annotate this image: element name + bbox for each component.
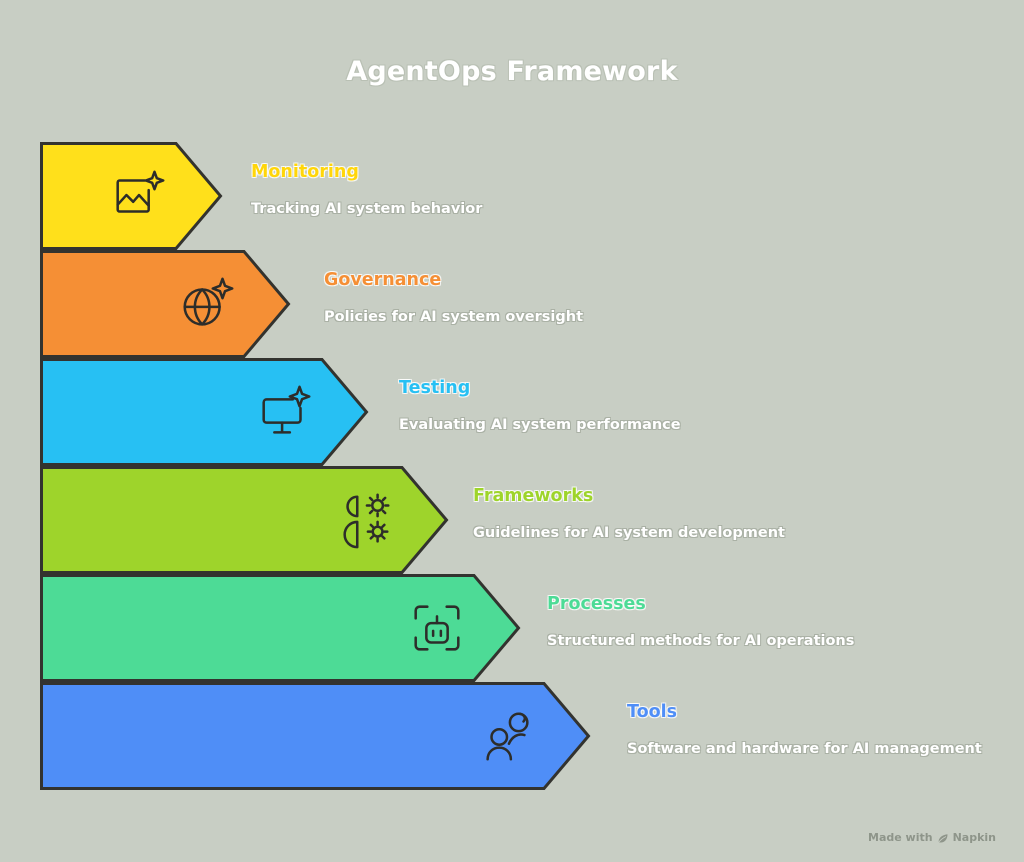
arrow-shape[interactable]	[40, 466, 448, 574]
arrow-row[interactable]: MonitoringTracking AI system behavior	[0, 142, 1024, 250]
arrow-row[interactable]: GovernancePolicies for AI system oversig…	[0, 250, 1024, 358]
arrow-row-description: Evaluating AI system performance	[399, 417, 681, 433]
arrow-row[interactable]: ToolsSoftware and hardware for AI manage…	[0, 682, 1024, 790]
watermark-brand: Napkin	[953, 831, 996, 844]
watermark-prefix: Made with	[868, 831, 933, 844]
arrow-row-description: Policies for AI system oversight	[324, 309, 583, 325]
arrow-row-description: Software and hardware for AI management	[627, 741, 982, 757]
arrow-row-description: Tracking AI system behavior	[251, 201, 482, 217]
arrow-shape[interactable]	[40, 250, 290, 358]
arrow-shape[interactable]	[40, 682, 590, 790]
infographic-canvas: AgentOps Framework MonitoringTracking AI…	[0, 0, 1024, 862]
arrow-row[interactable]: ProcessesStructured methods for AI opera…	[0, 574, 1024, 682]
arrow-row-description: Structured methods for AI operations	[547, 633, 854, 649]
arrow-row-description: Guidelines for AI system development	[473, 525, 785, 541]
watermark: Made with Napkin	[868, 831, 996, 844]
arrow-shape[interactable]	[40, 358, 368, 466]
arrow-shape[interactable]	[40, 142, 222, 250]
arrow-row-title: Processes	[547, 594, 646, 614]
arrow-row-title: Monitoring	[251, 162, 359, 182]
arrow-row-title: Testing	[399, 378, 470, 398]
leaf-icon	[937, 832, 949, 844]
arrow-row-title: Tools	[627, 702, 677, 722]
arrow-row-title: Frameworks	[473, 486, 593, 506]
arrow-row-title: Governance	[324, 270, 441, 290]
arrow-row[interactable]: TestingEvaluating AI system performance	[0, 358, 1024, 466]
arrow-shape[interactable]	[40, 574, 520, 682]
arrow-row[interactable]: FrameworksGuidelines for AI system devel…	[0, 466, 1024, 574]
page-title: AgentOps Framework	[0, 56, 1024, 87]
